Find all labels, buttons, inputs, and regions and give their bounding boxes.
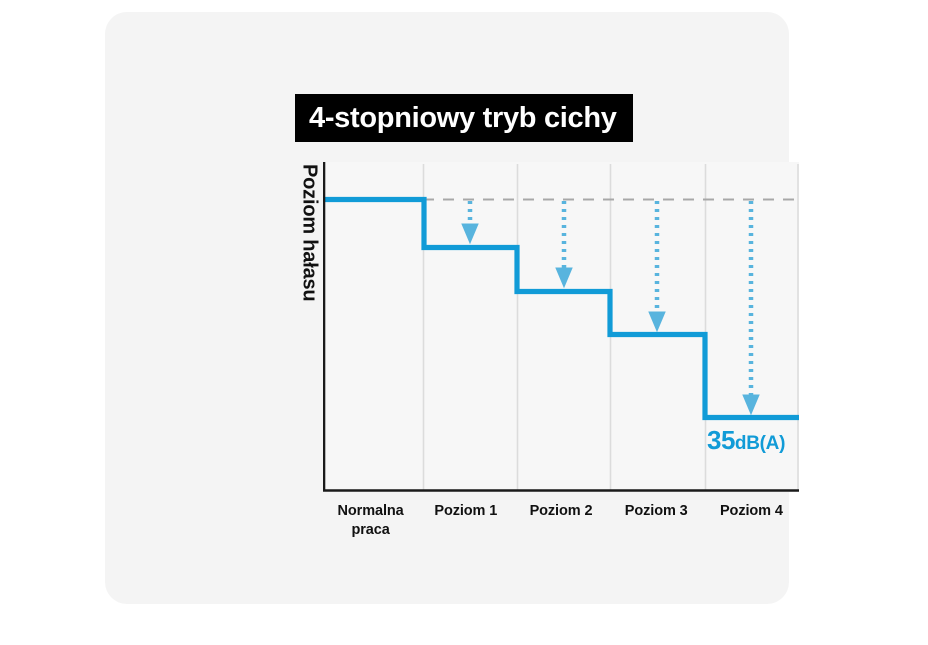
- x-tick-line1: Poziom 1: [434, 503, 497, 519]
- info-card: 4-stopniowy tryb cichy Poziom hałasu: [105, 12, 789, 604]
- x-tick-poziom-3: Poziom 3: [609, 502, 704, 550]
- x-tick-line1: Poziom 3: [625, 503, 688, 519]
- x-tick-poziom-4: Poziom 4: [704, 502, 799, 550]
- chart-title-banner: 4-stopniowy tryb cichy: [295, 94, 633, 142]
- x-tick-poziom-1: Poziom 1: [418, 502, 513, 550]
- x-tick-line1: Normalna: [338, 503, 404, 519]
- x-tick-normalna-praca: Normalna praca: [323, 502, 418, 550]
- x-axis-labels: Normalna praca Poziom 1 Poziom 2 Poziom …: [323, 502, 799, 550]
- page-title: 4-stopniowy tryb cichy: [309, 104, 617, 133]
- x-tick-poziom-2: Poziom 2: [513, 502, 608, 550]
- noise-value-unit: dB(A): [735, 433, 785, 454]
- noise-value-annotation: 35dB(A): [707, 427, 785, 453]
- x-tick-line1: Poziom 4: [720, 503, 783, 519]
- y-axis-label-text: Poziom hałasu: [298, 164, 321, 301]
- noise-value-number: 35: [707, 425, 735, 455]
- x-tick-line2: praca: [323, 521, 418, 540]
- x-tick-line1: Poziom 2: [530, 503, 593, 519]
- y-axis-label: Poziom hałasu: [298, 164, 320, 494]
